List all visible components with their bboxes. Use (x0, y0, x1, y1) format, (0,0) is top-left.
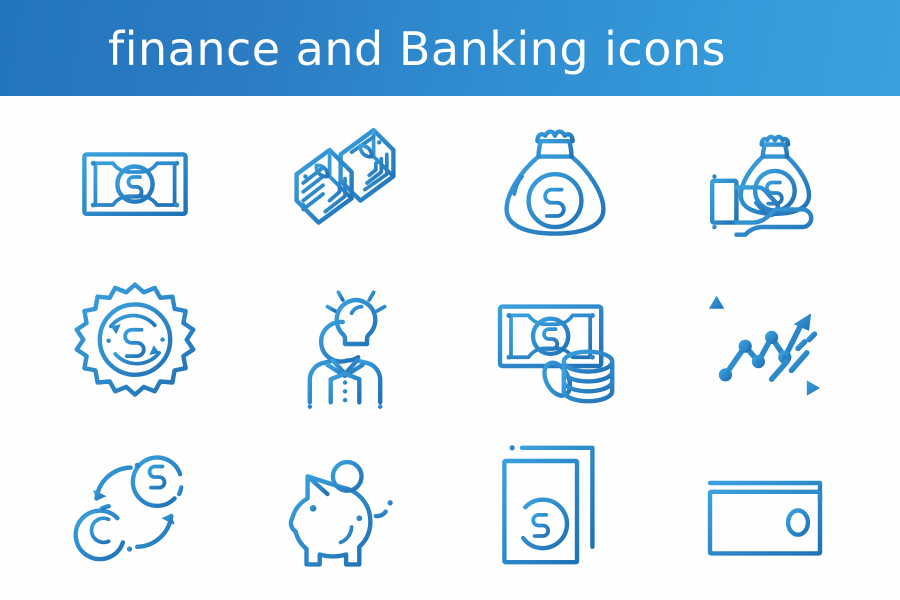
piggy-bank-icon (279, 439, 411, 571)
person-idea-icon (279, 278, 411, 410)
header-banner: finance and Banking icons (0, 0, 900, 96)
icon-cell-piggy-bank[interactable] (240, 425, 450, 586)
invoice-icon (489, 439, 621, 571)
cash-stack-icon (279, 117, 411, 249)
icon-cell-currency-exchange[interactable] (30, 425, 240, 586)
gear-dollar-icon (69, 278, 201, 410)
icon-cell-invoice[interactable] (450, 425, 660, 586)
icon-cell-banknote-coins[interactable] (450, 263, 660, 424)
icon-grid (0, 96, 900, 600)
icon-cell-person-idea[interactable] (240, 263, 450, 424)
icon-cell-cash-stack[interactable] (240, 102, 450, 263)
money-bag-icon (489, 117, 621, 249)
growth-chart-icon (699, 278, 831, 410)
currency-exchange-icon (69, 439, 201, 571)
icon-cell-hand-money-bag[interactable] (660, 102, 870, 263)
banknote-icon (69, 117, 201, 249)
banknote-coins-icon (489, 278, 621, 410)
page-title: finance and Banking icons (108, 26, 726, 72)
icon-cell-money-bag[interactable] (450, 102, 660, 263)
hand-money-bag-icon (699, 117, 831, 249)
icon-cell-credit-card[interactable] (660, 425, 870, 586)
icon-cell-growth-chart[interactable] (660, 263, 870, 424)
icon-cell-gear-dollar[interactable] (30, 263, 240, 424)
icon-cell-banknote[interactable] (30, 102, 240, 263)
icon-set-page: finance and Banking icons (0, 0, 900, 600)
credit-card-icon (699, 439, 831, 571)
